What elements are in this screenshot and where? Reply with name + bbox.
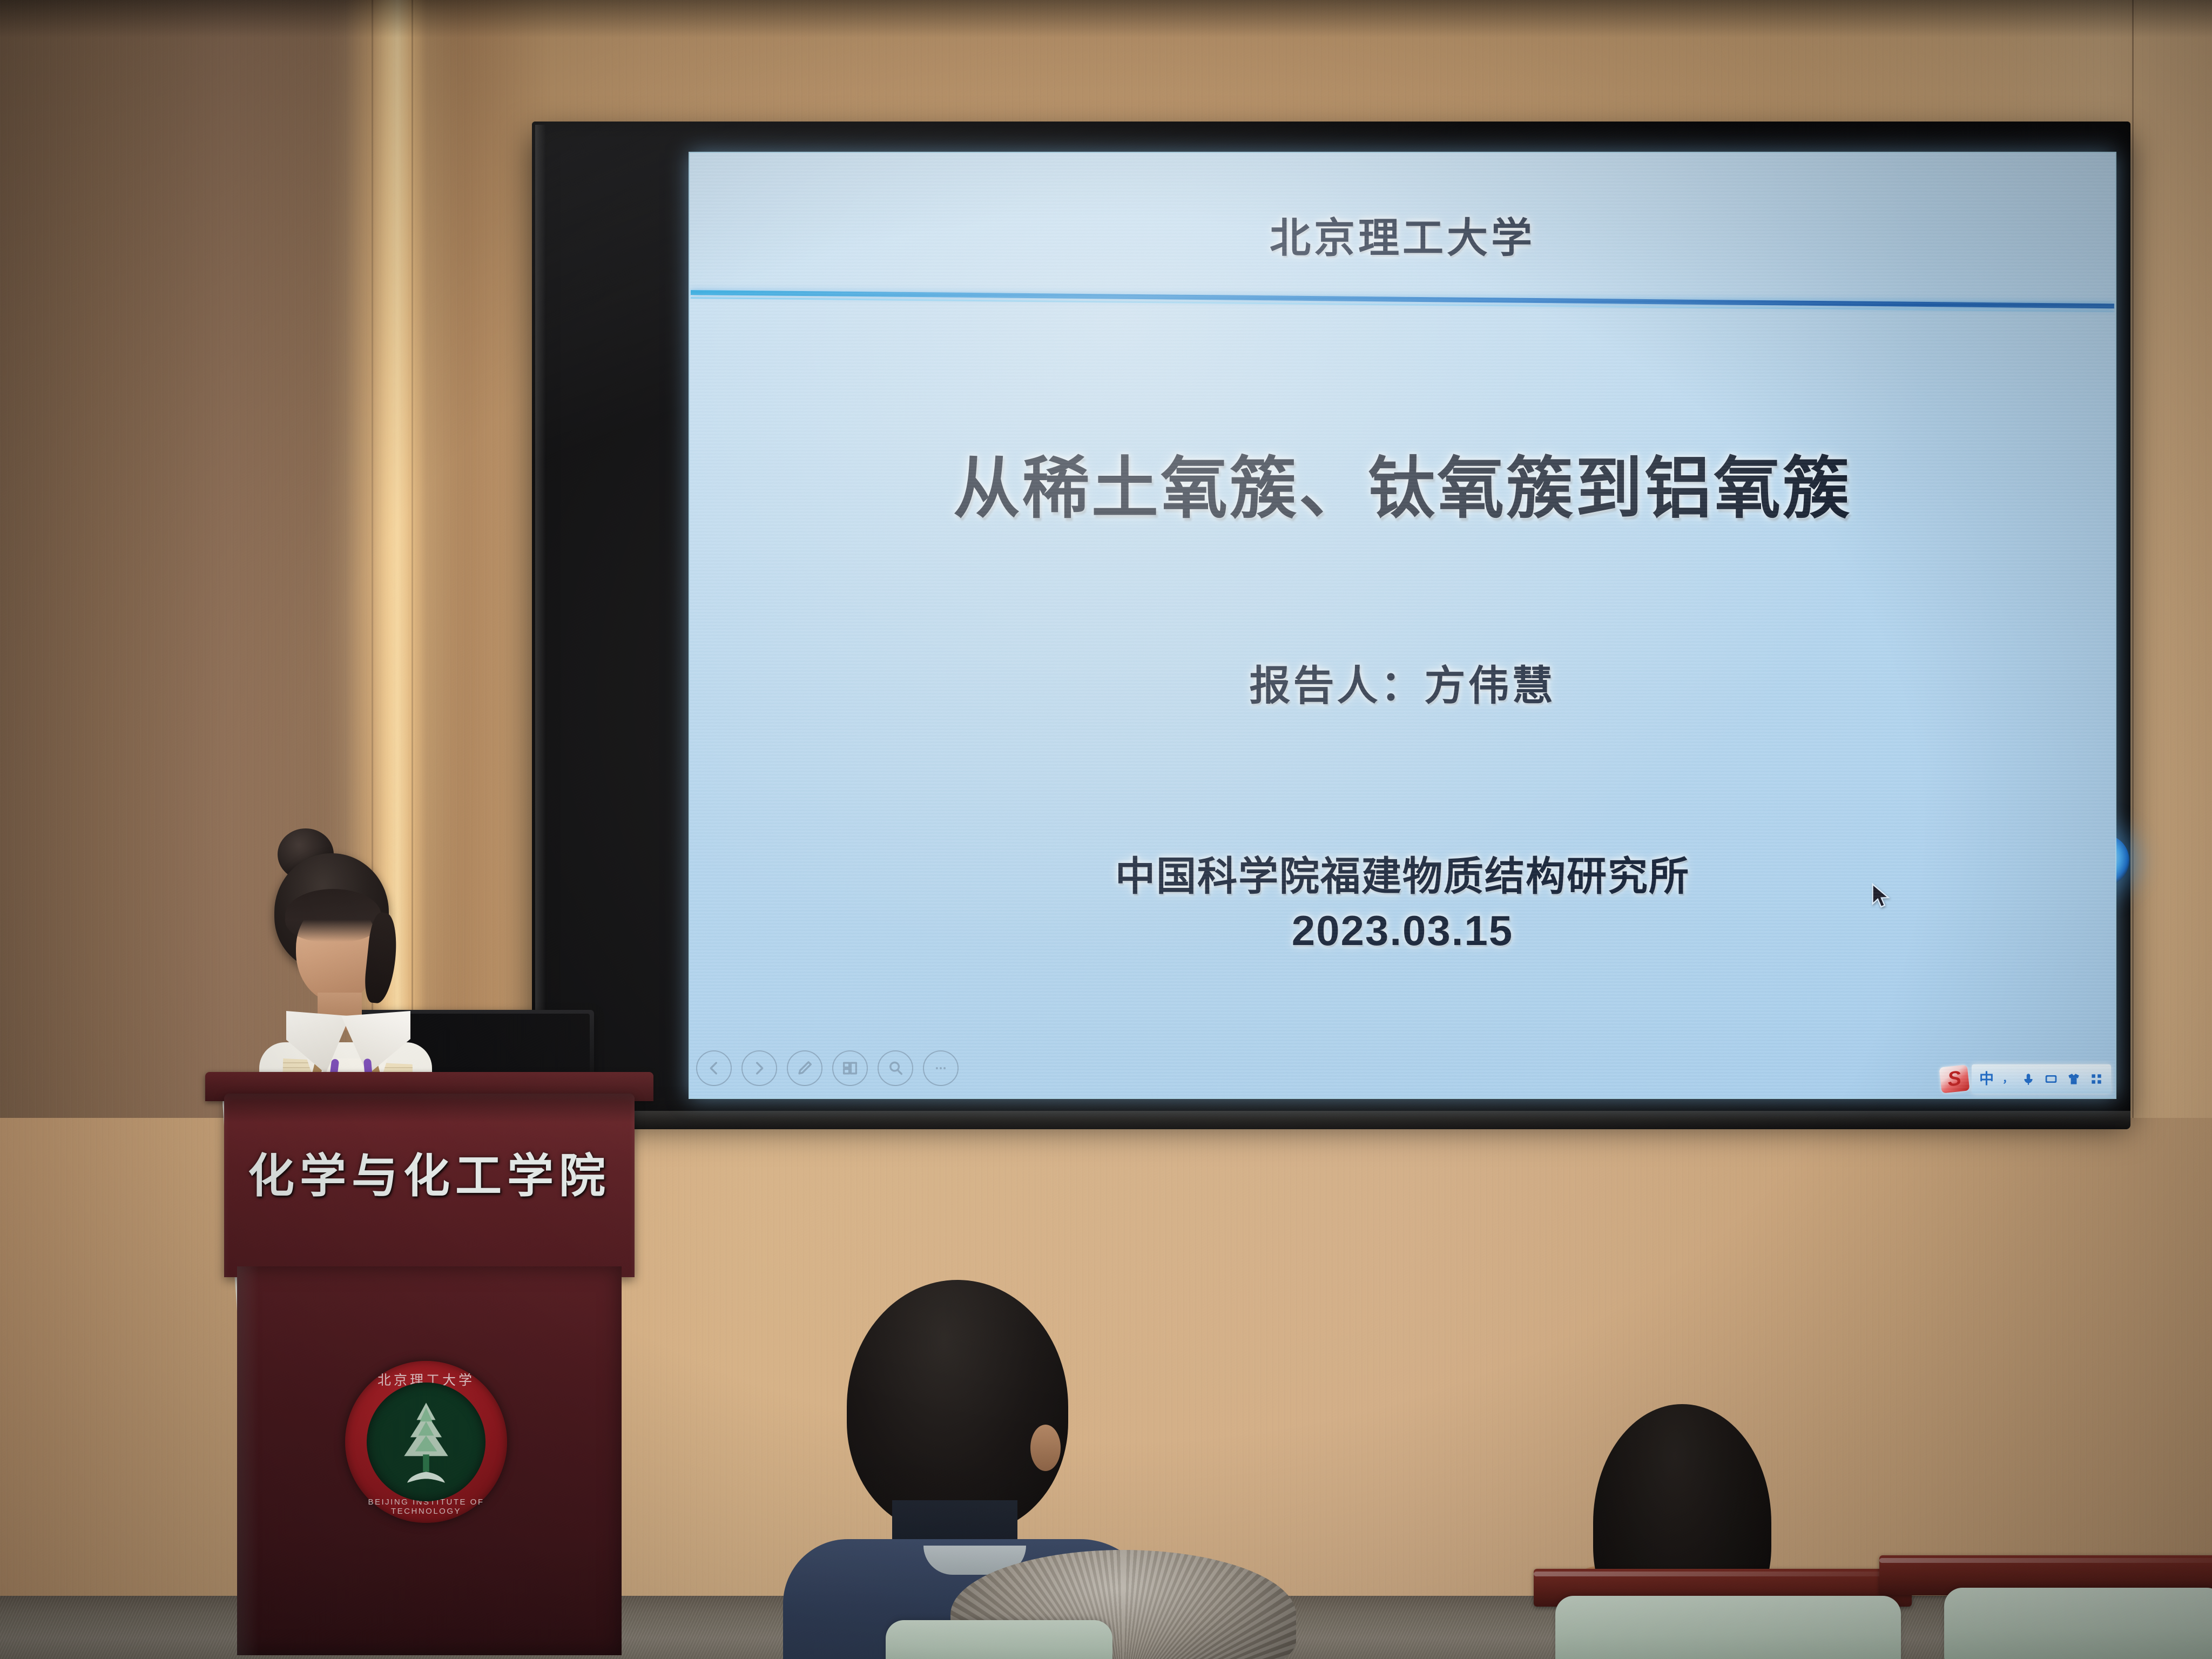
ear (1030, 1425, 1061, 1471)
lectern: 化学与化工学院 北京理工大学 BEIJING INSTITUTE OF TECH… (224, 1072, 635, 1659)
slide-presenter-text: 报告人：方伟慧 (1250, 652, 1556, 712)
powerpoint-slide[interactable]: 北京理工大学 从稀土氧簇、钛氧簇到铝氧簇 报告人：方伟慧 中国科学院福建物质结构… (690, 153, 2115, 1098)
menu-grid-icon (2089, 1072, 2103, 1086)
presentation-toolbar[interactable] (696, 1050, 959, 1086)
microphone-icon (2021, 1072, 2035, 1086)
slide-date: 2023.03.15 (690, 906, 2115, 955)
shirt-icon (2067, 1072, 2081, 1086)
slide-title-text: 从稀土氧簇、钛氧簇到铝氧簇 (953, 434, 1852, 531)
slide-affiliation: 中国科学院福建物质结构研究所 (690, 844, 2115, 902)
ceiling-shadow (0, 0, 2212, 38)
next-slide-button[interactable] (741, 1050, 777, 1086)
rail-highlight (1534, 1572, 1912, 1576)
emblem-center-disc (367, 1382, 485, 1501)
lectern-sign: 化学与化工学院 (224, 1138, 635, 1205)
auditorium-seat (1555, 1596, 1901, 1659)
pen-tool-button[interactable] (787, 1050, 822, 1086)
pine-tree-dove-icon (386, 1400, 467, 1489)
bezel-highlight (535, 125, 546, 1108)
pen-icon (795, 1059, 814, 1077)
presentation-display[interactable]: 北京理工大学 从稀土氧簇、钛氧簇到铝氧簇 报告人：方伟慧 中国科学院福建物质结构… (532, 122, 2130, 1115)
hair-fringe (285, 889, 381, 942)
mouse-cursor (1870, 882, 1893, 912)
keyboard-icon (2044, 1072, 2058, 1086)
ellipsis-icon (932, 1059, 950, 1077)
arrow-pointer-icon (1870, 882, 1893, 912)
skin-selector-button[interactable] (2067, 1072, 2081, 1086)
zoom-tool-button[interactable] (878, 1050, 913, 1086)
slide-date-text: 2023.03.15 (1292, 906, 1513, 955)
display-bottom-bezel (532, 1111, 2130, 1129)
auditorium-seat (1944, 1588, 2212, 1659)
lectern-front-panel: 化学与化工学院 (224, 1094, 635, 1277)
lectern-body: 北京理工大学 BEIJING INSTITUTE OF TECHNOLOGY (237, 1266, 622, 1655)
university-emblem: 北京理工大学 BEIJING INSTITUTE OF TECHNOLOGY (345, 1361, 507, 1523)
soft-keyboard-button[interactable] (2044, 1072, 2058, 1086)
ime-tray[interactable]: 中 ， (1972, 1064, 2111, 1094)
more-options-button[interactable] (923, 1050, 959, 1086)
slide-affiliation-text: 中国科学院福建物质结构研究所 (1115, 844, 1690, 902)
head (847, 1280, 1068, 1534)
voice-input-button[interactable] (2021, 1072, 2035, 1086)
auditorium-seat (886, 1620, 1112, 1659)
language-mode-button[interactable]: 中 (1979, 1072, 1994, 1087)
slide-navigator-button[interactable] (832, 1050, 868, 1086)
sogou-ime-bar[interactable]: S 中 ， (1940, 1064, 2111, 1094)
sogou-logo-icon[interactable]: S (1939, 1064, 1970, 1093)
punctuation-mode-button[interactable]: ， (2002, 1074, 2013, 1084)
grid-icon (841, 1059, 859, 1077)
slide-title: 从稀土氧簇、钛氧簇到铝氧簇 (690, 434, 2115, 531)
chevron-left-icon (705, 1059, 723, 1077)
previous-slide-button[interactable] (696, 1050, 732, 1086)
slide-header: 北京理工大学 (690, 205, 2115, 264)
rail-highlight (1879, 1558, 2212, 1563)
lectern-sign-text: 化学与化工学院 (248, 1138, 611, 1205)
chevron-right-icon (750, 1059, 768, 1077)
ime-menu-button[interactable] (2089, 1072, 2103, 1086)
lecture-hall-photo: 北京理工大学 从稀土氧簇、钛氧簇到铝氧簇 报告人：方伟慧 中国科学院福建物质结构… (0, 0, 2212, 1659)
slide-header-text: 北京理工大学 (1270, 205, 1535, 264)
magnifier-icon (886, 1059, 905, 1077)
slide-presenter: 报告人：方伟慧 (690, 652, 2115, 712)
